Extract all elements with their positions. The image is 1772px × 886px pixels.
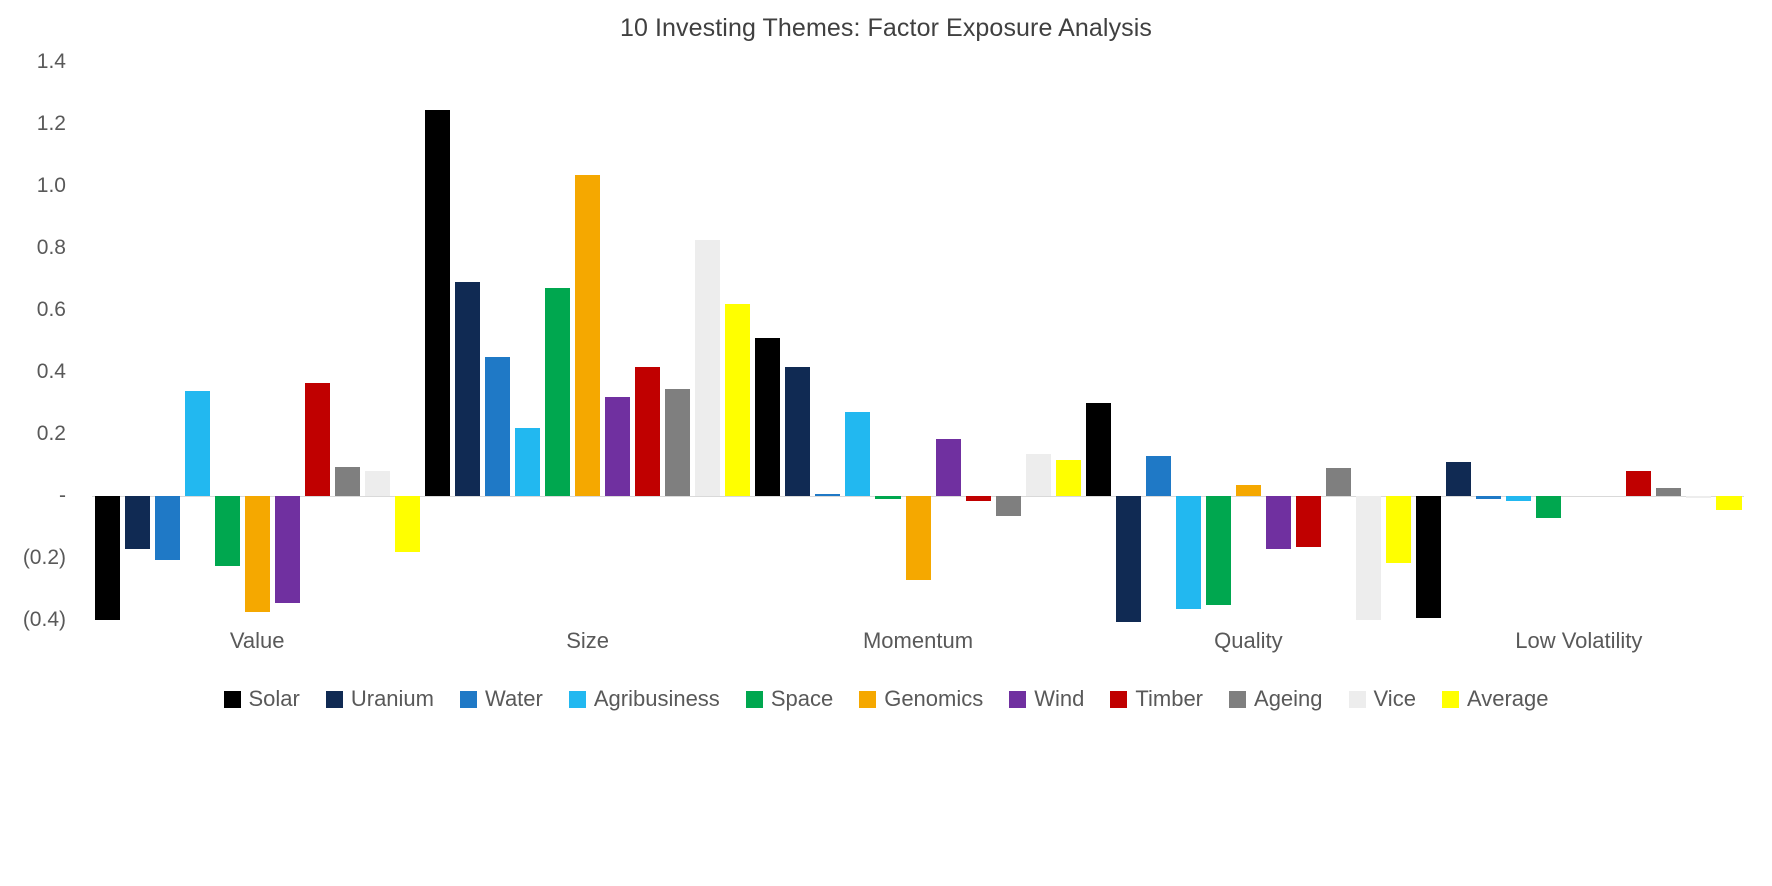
- bar[interactable]: [275, 496, 300, 603]
- bar-slot: [545, 62, 570, 620]
- bar-slot: [125, 62, 150, 620]
- legend-item[interactable]: Space: [746, 686, 833, 712]
- bar-slot: [1026, 62, 1051, 620]
- bar[interactable]: [695, 240, 720, 496]
- bar-slot: [725, 62, 750, 620]
- bar-slot: [1626, 62, 1651, 620]
- legend-item[interactable]: Average: [1442, 686, 1549, 712]
- bar-slot: [575, 62, 600, 620]
- bar-slot: [1326, 62, 1351, 620]
- bar[interactable]: [395, 496, 420, 552]
- y-tick-label: (0.2): [23, 546, 66, 570]
- bar-group-bars: [422, 62, 752, 620]
- bar-slot: [1716, 62, 1741, 620]
- bar-slot: [1416, 62, 1441, 620]
- bar-slot: [875, 62, 900, 620]
- bar-slot: [1056, 62, 1081, 620]
- bar-slot: [665, 62, 690, 620]
- legend-swatch-icon: [1349, 691, 1366, 708]
- legend-swatch-icon: [1110, 691, 1127, 708]
- bar[interactable]: [815, 494, 840, 496]
- chart-container: 10 Investing Themes: Factor Exposure Ana…: [0, 0, 1772, 886]
- bar-slot: [966, 62, 991, 620]
- bar[interactable]: [1626, 471, 1651, 496]
- legend-label: Solar: [249, 686, 300, 712]
- legend-swatch-icon: [859, 691, 876, 708]
- bar-slot: [1506, 62, 1531, 620]
- y-tick-label: -: [59, 484, 66, 508]
- bar-slot: [1536, 62, 1561, 620]
- bar[interactable]: [335, 467, 360, 496]
- x-tick-label: Momentum: [753, 628, 1083, 654]
- bar-slot: [365, 62, 390, 620]
- bar[interactable]: [1056, 460, 1081, 496]
- legend-label: Average: [1467, 686, 1549, 712]
- legend-item[interactable]: Vice: [1349, 686, 1416, 712]
- legend-label: Uranium: [351, 686, 434, 712]
- bar[interactable]: [455, 282, 480, 496]
- bar[interactable]: [966, 496, 991, 501]
- bar[interactable]: [1296, 496, 1321, 547]
- bar[interactable]: [635, 367, 660, 496]
- legend-swatch-icon: [569, 691, 586, 708]
- bar[interactable]: [1086, 403, 1111, 496]
- bar[interactable]: [1026, 454, 1051, 496]
- bar-slot: [1566, 62, 1591, 620]
- bar-slot: [755, 62, 780, 620]
- legend-label: Vice: [1374, 686, 1416, 712]
- bar-slot: [1296, 62, 1321, 620]
- bar-slot: [1596, 62, 1621, 620]
- bar[interactable]: [1536, 496, 1561, 518]
- bar-slot: [815, 62, 840, 620]
- x-tick-label: Low Volatility: [1414, 628, 1744, 654]
- legend-label: Space: [771, 686, 833, 712]
- bar-slot: [275, 62, 300, 620]
- legend-item[interactable]: Water: [460, 686, 543, 712]
- bar-slot: [695, 62, 720, 620]
- bar-slot: [1446, 62, 1471, 620]
- bar[interactable]: [665, 389, 690, 496]
- legend-label: Wind: [1034, 686, 1084, 712]
- bar[interactable]: [1356, 496, 1381, 620]
- bar-group: [753, 62, 1083, 620]
- y-tick-label: 1.2: [37, 112, 66, 136]
- bar-slot: [605, 62, 630, 620]
- bar[interactable]: [215, 496, 240, 566]
- bar[interactable]: [1656, 488, 1681, 496]
- legend-item[interactable]: Uranium: [326, 686, 434, 712]
- y-tick-label: 0.6: [37, 298, 66, 322]
- bar[interactable]: [1476, 496, 1501, 499]
- bar-group-bars: [1083, 62, 1413, 620]
- bar-slot: [485, 62, 510, 620]
- chart-title: 10 Investing Themes: Factor Exposure Ana…: [0, 14, 1772, 43]
- legend-item[interactable]: Solar: [224, 686, 300, 712]
- bar-slot: [455, 62, 480, 620]
- bar[interactable]: [996, 496, 1021, 516]
- bar-slot: [845, 62, 870, 620]
- bar-slot: [1656, 62, 1681, 620]
- bar[interactable]: [545, 288, 570, 496]
- legend-swatch-icon: [746, 691, 763, 708]
- y-tick-label: 0.4: [37, 360, 66, 384]
- bar-slot: [155, 62, 180, 620]
- bar-slot: [1086, 62, 1111, 620]
- bar[interactable]: [936, 439, 961, 496]
- legend-label: Timber: [1135, 686, 1203, 712]
- bar-group: [1414, 62, 1744, 620]
- legend-swatch-icon: [224, 691, 241, 708]
- legend-label: Agribusiness: [594, 686, 720, 712]
- x-tick-label: Value: [92, 628, 422, 654]
- legend-item[interactable]: Genomics: [859, 686, 983, 712]
- bar[interactable]: [1716, 496, 1741, 510]
- x-tick-label: Size: [422, 628, 752, 654]
- y-tick-label: 0.8: [37, 236, 66, 260]
- y-tick-label: (0.4): [23, 608, 66, 632]
- legend-label: Ageing: [1254, 686, 1323, 712]
- legend-item[interactable]: Timber: [1110, 686, 1203, 712]
- bar[interactable]: [1176, 496, 1201, 609]
- bar-slot: [515, 62, 540, 620]
- x-tick-label: Quality: [1083, 628, 1413, 654]
- bar[interactable]: [725, 304, 750, 496]
- bar-slot: [1266, 62, 1291, 620]
- bar[interactable]: [425, 110, 450, 496]
- legend-swatch-icon: [326, 691, 343, 708]
- bar[interactable]: [1206, 496, 1231, 605]
- bar-slot: [1386, 62, 1411, 620]
- bar[interactable]: [1266, 496, 1291, 549]
- legend-swatch-icon: [1229, 691, 1246, 708]
- bar[interactable]: [1146, 456, 1171, 496]
- bar-slot: [1236, 62, 1261, 620]
- bar-slot: [185, 62, 210, 620]
- bar-slot: [996, 62, 1021, 620]
- bar[interactable]: [1446, 462, 1471, 496]
- legend-swatch-icon: [460, 691, 477, 708]
- y-tick-label: 0.2: [37, 422, 66, 446]
- bar-slot: [335, 62, 360, 620]
- bar-slot: [425, 62, 450, 620]
- bar-slot: [635, 62, 660, 620]
- legend-swatch-icon: [1009, 691, 1026, 708]
- bar-group: [92, 62, 422, 620]
- bar-slot: [305, 62, 330, 620]
- y-tick-label: 1.4: [37, 50, 66, 74]
- bar-group-bars: [92, 62, 422, 620]
- bar[interactable]: [305, 383, 330, 496]
- bar-slot: [906, 62, 931, 620]
- y-tick-label: 1.0: [37, 174, 66, 198]
- bar[interactable]: [95, 496, 120, 620]
- legend-label: Genomics: [884, 686, 983, 712]
- bar[interactable]: [1506, 496, 1531, 501]
- bar[interactable]: [1416, 496, 1441, 618]
- bar-slot: [1146, 62, 1171, 620]
- y-axis: 1.41.21.00.80.60.40.2-(0.2)(0.4): [0, 62, 80, 620]
- bar-slot: [215, 62, 240, 620]
- chart-legend: SolarUraniumWaterAgribusinessSpaceGenomi…: [0, 686, 1772, 712]
- bar-group: [422, 62, 752, 620]
- bar[interactable]: [755, 338, 780, 496]
- bar[interactable]: [575, 175, 600, 496]
- bar[interactable]: [785, 367, 810, 496]
- bar-slot: [1206, 62, 1231, 620]
- bar-group: [1083, 62, 1413, 620]
- bar[interactable]: [875, 496, 900, 499]
- bar-group-bars: [753, 62, 1083, 620]
- bar-slot: [1356, 62, 1381, 620]
- x-axis: ValueSizeMomentumQualityLow Volatility: [92, 628, 1744, 654]
- plot-area: [92, 62, 1744, 620]
- bar-slot: [95, 62, 120, 620]
- bar[interactable]: [245, 496, 270, 612]
- bar[interactable]: [1326, 468, 1351, 496]
- bar[interactable]: [1116, 496, 1141, 622]
- bar[interactable]: [485, 357, 510, 497]
- bar[interactable]: [185, 391, 210, 496]
- bar[interactable]: [845, 412, 870, 496]
- bar-slot: [785, 62, 810, 620]
- bar-slot: [395, 62, 420, 620]
- bar-slot: [245, 62, 270, 620]
- bar[interactable]: [155, 496, 180, 560]
- bar[interactable]: [1386, 496, 1411, 563]
- bar-slot: [1176, 62, 1201, 620]
- legend-swatch-icon: [1442, 691, 1459, 708]
- bar-slot: [1476, 62, 1501, 620]
- bar-slot: [1686, 62, 1711, 620]
- legend-item[interactable]: Ageing: [1229, 686, 1323, 712]
- bar[interactable]: [365, 471, 390, 496]
- legend-item[interactable]: Wind: [1009, 686, 1084, 712]
- bar[interactable]: [515, 428, 540, 496]
- legend-item[interactable]: Agribusiness: [569, 686, 720, 712]
- bar-groups: [92, 62, 1744, 620]
- bar[interactable]: [125, 496, 150, 549]
- bar-slot: [936, 62, 961, 620]
- legend-label: Water: [485, 686, 543, 712]
- bar[interactable]: [605, 397, 630, 496]
- bar-group-bars: [1414, 62, 1744, 620]
- bar-slot: [1116, 62, 1141, 620]
- bar[interactable]: [1686, 496, 1711, 498]
- bar[interactable]: [1236, 485, 1261, 496]
- bar[interactable]: [906, 496, 931, 580]
